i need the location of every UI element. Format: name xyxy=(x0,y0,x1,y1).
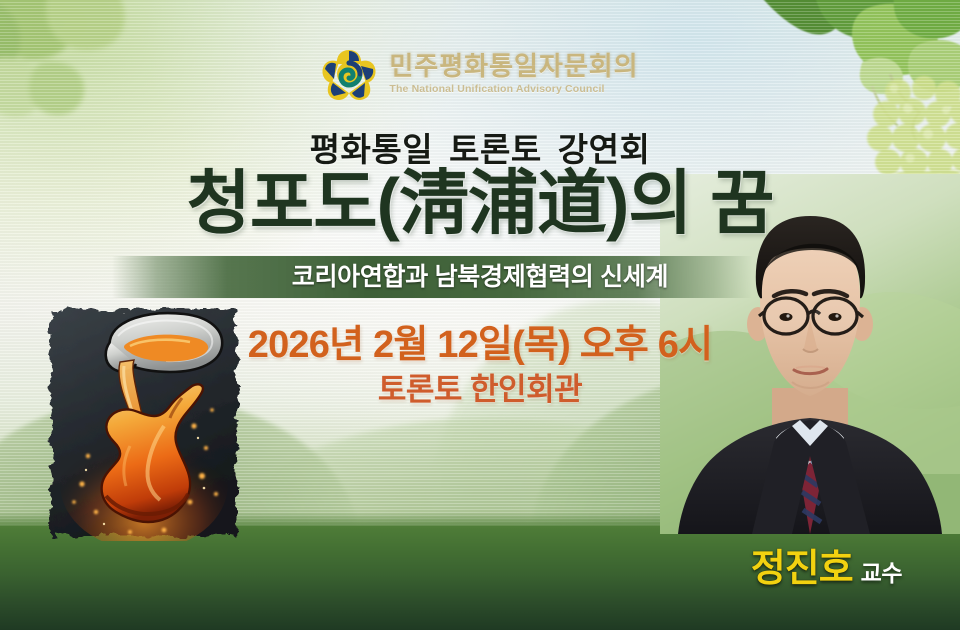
organization-logo: 민주평화통일자문회의 The National Unification Advi… xyxy=(0,48,960,100)
organization-name-english: The National Unification Advisory Counci… xyxy=(389,83,604,95)
page-title: 청포도(淸浦道)의 꿈 xyxy=(0,167,960,241)
eyebrow-part1: 평화통일 xyxy=(310,131,433,168)
eyebrow-part2: 토론토 xyxy=(449,131,542,168)
event-venue: 토론토 한인회관 xyxy=(0,364,960,409)
event-datetime: 2026년 2월 12일(목) 오후 6시 xyxy=(0,313,960,368)
speaker-credit: 정진호 교수 xyxy=(751,537,902,592)
flower-emblem-icon xyxy=(321,48,377,100)
logo-text-block: 민주평화통일자문회의 The National Unification Advi… xyxy=(389,53,638,95)
eyebrow-part3: 강연회 xyxy=(558,131,651,168)
organization-name-korean: 민주평화통일자문회의 xyxy=(389,53,638,80)
speaker-name: 정진호 xyxy=(751,537,853,592)
event-poster: 민주평화통일자문회의 The National Unification Advi… xyxy=(0,0,960,630)
subtitle-text: 코리아연합과 남북경제협력의 신세계 xyxy=(0,258,960,296)
speaker-title: 교수 xyxy=(861,554,902,588)
